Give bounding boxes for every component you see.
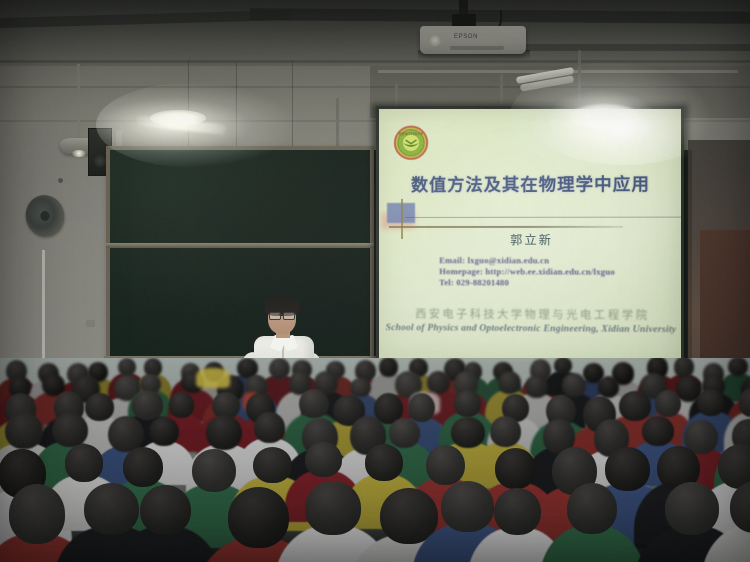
pendant-lamp-bulb [72,150,86,157]
slide-title: 数值方法及其在物理学中应用 [379,170,681,196]
audience-member-head [305,442,342,476]
audience-member-head [123,447,164,487]
audience-member-head [426,445,465,485]
projection-screen: 西安电子科技大学 数值方法及其在物理学中应用 郭立新 Email: lxguo@… [376,106,684,364]
projection-screen-surface: 西安电子科技大学 数值方法及其在物理学中应用 郭立新 Email: lxguo@… [379,109,681,361]
ceiling-light-core [150,110,206,126]
slide-email: Email: lxguo@xidian.edu.cn [439,255,615,266]
audience-member-head [389,418,419,448]
audience-member-head [494,488,541,535]
projector-lens-icon [428,34,442,46]
audience-member-head [655,390,681,417]
slide-school-english: School of Physics and Optoelectronic Eng… [379,323,681,335]
audience-member-head [562,373,586,397]
audience-member-head [140,485,191,536]
slide-school-chinese: 西安电子科技大学物理与光电工程学院 [379,305,681,323]
audience-member-head [728,358,747,376]
audience-member-head [697,389,725,417]
audience-member-head [454,390,481,416]
projector-vent [450,46,504,50]
light-rod [578,50,581,102]
slide-decoration-thin-rule [405,217,681,218]
audience-member-head [490,416,521,447]
glasses-icon [269,312,295,318]
blackboard-slide-rail [106,243,374,248]
fan-hub [39,210,50,222]
pendant-lamp-rod [77,64,80,140]
audience-member [540,483,645,562]
slide-author: 郭立新 [379,231,681,248]
svg-text:西安电子科技大学: 西安电子科技大学 [399,131,423,136]
audience-member [702,481,750,562]
audience-member-head [730,481,750,533]
audience-garment [196,368,230,388]
audience-member-head [567,483,617,534]
glasses-lens [283,312,295,320]
speaker-cone-icon [94,155,106,167]
projector-brand-label: EPSON [454,34,478,40]
audience-member-head [365,444,403,480]
slide: 西安电子科技大学 数值方法及其在物理学中应用 郭立新 Email: lxguo@… [379,109,681,361]
xidian-university-seal-icon: 西安电子科技大学 [393,125,429,161]
audience-member-head [65,444,104,482]
ceiling-projector: EPSON [420,26,526,54]
slide-homepage: Homepage: http://web.ee.xidian.edu.cn/lx… [439,266,615,278]
audience-member-head [254,412,285,443]
lecture-hall-photo: EPSON 西安电子科技大学 [0,0,750,562]
audience-member-head [52,413,88,447]
slide-contact-block: Email: lxguo@xidian.edu.cn Homepage: htt… [439,255,615,289]
audience-member-head [554,358,572,374]
audience-member-head [149,417,179,446]
wall-hook [58,178,63,183]
slide-tel: Tel: 029-88201480 [439,277,615,289]
wall-cornice [0,60,750,63]
slide-decoration-horizontal-rule [389,226,623,228]
audience-member-head [739,388,750,416]
wall-outlet [86,320,95,327]
ceiling-light-core [570,104,640,130]
student-audience [0,358,750,562]
